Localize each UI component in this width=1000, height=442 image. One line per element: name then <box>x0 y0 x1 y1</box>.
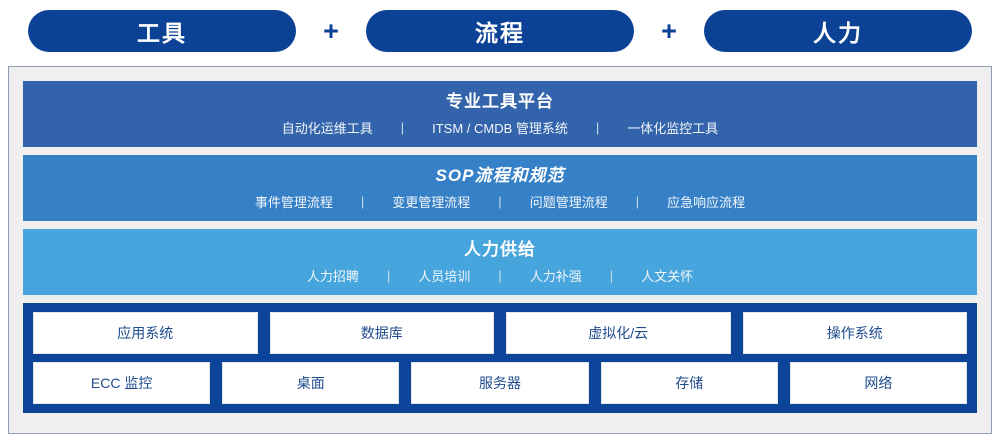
layer-item[interactable]: 事件管理流程 <box>241 192 347 211</box>
object-row: 应用系统数据库虚拟化/云操作系统 <box>33 312 967 354</box>
object-card-label: 数据库 <box>361 323 403 343</box>
layer-item-separator: | <box>484 268 515 283</box>
layer-title: SOP流程和规范 <box>436 165 565 188</box>
layer-item[interactable]: 变更管理流程 <box>378 192 484 211</box>
formula-pill-label: 流程 <box>475 14 525 48</box>
object-card-label: 应用系统 <box>117 323 173 343</box>
layer-item[interactable]: 问题管理流程 <box>516 192 622 211</box>
object-card[interactable]: ECC 监控 <box>33 362 210 404</box>
object-card-label: 服务器 <box>479 373 521 393</box>
object-card[interactable]: 网络 <box>790 362 967 404</box>
layer-item[interactable]: 人力补强 <box>516 266 596 285</box>
layer-band-people: 人力供给人力招聘|人员培训|人力补强|人文关怀 <box>23 229 977 295</box>
layer-item[interactable]: 一体化监控工具 <box>613 118 732 137</box>
layer-title: 人力供给 <box>464 239 536 262</box>
object-card[interactable]: 服务器 <box>411 362 588 404</box>
layer-item[interactable]: 人文关怀 <box>627 266 707 285</box>
formula-row: 工具+流程+人力 <box>0 0 1000 62</box>
layer-item[interactable]: 人员培训 <box>404 266 484 285</box>
layer-item[interactable]: ITSM / CMDB 管理系统 <box>418 118 582 137</box>
layer-item-separator: | <box>484 194 515 209</box>
object-row: ECC 监控桌面服务器存储网络 <box>33 362 967 404</box>
plus-operator: + <box>296 18 366 45</box>
object-card-label: 存储 <box>675 373 703 393</box>
object-card[interactable]: 应用系统 <box>33 312 258 354</box>
formula-pill-3[interactable]: 人力 <box>704 10 972 52</box>
layer-item[interactable]: 应急响应流程 <box>653 192 759 211</box>
object-card-label: 虚拟化/云 <box>588 323 648 343</box>
layer-band-tools: 专业工具平台自动化运维工具|ITSM / CMDB 管理系统|一体化监控工具 <box>23 81 977 147</box>
managed-objects-box: 应用系统数据库虚拟化/云操作系统ECC 监控桌面服务器存储网络 <box>23 303 977 413</box>
layer-item-list: 事件管理流程|变更管理流程|问题管理流程|应急响应流程 <box>241 192 759 211</box>
layer-item-separator: | <box>347 194 378 209</box>
object-card[interactable]: 数据库 <box>270 312 495 354</box>
formula-pill-2[interactable]: 流程 <box>366 10 634 52</box>
layer-item[interactable]: 自动化运维工具 <box>268 118 387 137</box>
capability-frame: 专业工具平台自动化运维工具|ITSM / CMDB 管理系统|一体化监控工具SO… <box>8 66 992 434</box>
layer-band-process: SOP流程和规范事件管理流程|变更管理流程|问题管理流程|应急响应流程 <box>23 155 977 221</box>
object-card[interactable]: 虚拟化/云 <box>506 312 731 354</box>
layer-title: 专业工具平台 <box>446 91 554 114</box>
object-card[interactable]: 操作系统 <box>743 312 968 354</box>
formula-pill-1[interactable]: 工具 <box>28 10 296 52</box>
object-card[interactable]: 存储 <box>601 362 778 404</box>
layer-item-separator: | <box>582 120 613 135</box>
object-card-label: 操作系统 <box>827 323 883 343</box>
object-card-label: 桌面 <box>297 373 325 393</box>
formula-pill-label: 人力 <box>813 14 863 48</box>
plus-operator: + <box>634 18 704 45</box>
object-card-label: ECC 监控 <box>91 373 152 393</box>
formula-pill-label: 工具 <box>137 14 187 48</box>
layer-band-list: 专业工具平台自动化运维工具|ITSM / CMDB 管理系统|一体化监控工具SO… <box>23 81 977 295</box>
layer-item-separator: | <box>596 268 627 283</box>
object-card-label: 网络 <box>864 373 892 393</box>
object-card[interactable]: 桌面 <box>222 362 399 404</box>
layer-item-list: 自动化运维工具|ITSM / CMDB 管理系统|一体化监控工具 <box>268 118 733 137</box>
layer-item-separator: | <box>387 120 418 135</box>
layer-item-separator: | <box>622 194 653 209</box>
layer-item[interactable]: 人力招聘 <box>293 266 373 285</box>
layer-item-separator: | <box>373 268 404 283</box>
diagram-root: 工具+流程+人力 专业工具平台自动化运维工具|ITSM / CMDB 管理系统|… <box>0 0 1000 442</box>
layer-item-list: 人力招聘|人员培训|人力补强|人文关怀 <box>293 266 707 285</box>
